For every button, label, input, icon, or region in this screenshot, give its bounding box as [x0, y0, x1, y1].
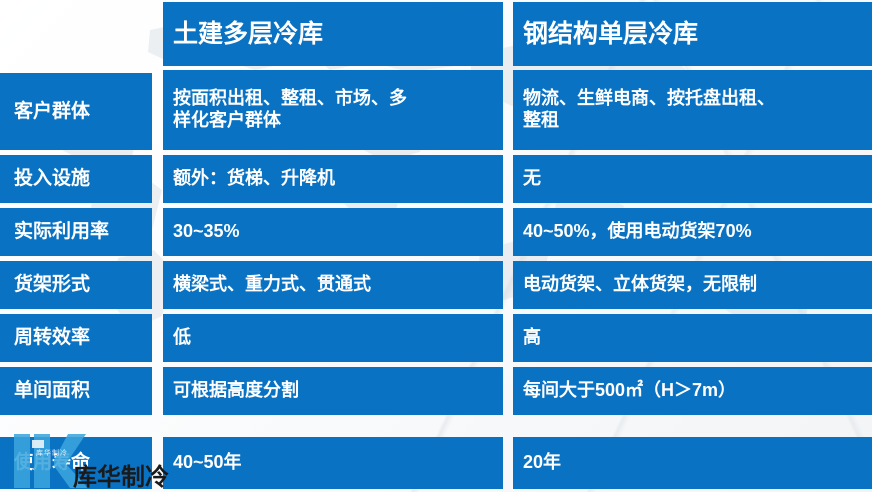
- table-cell-2-b: 40~50%，使用电动货架70%: [513, 208, 872, 256]
- table-cell-0-b: 物流、生鲜电商、按托盘出租、 整租: [513, 70, 872, 150]
- cell-text: 横梁式、重力式、贯通式: [173, 274, 493, 296]
- row-label-text: 投入设施: [14, 167, 138, 190]
- row-label-text: 周转效率: [14, 326, 138, 349]
- table-cell-5-b: 每间大于500㎡（H＞7m）: [513, 367, 872, 415]
- cell-text: 40~50%，使用电动货架70%: [523, 221, 862, 243]
- table-cell-1-a: 额外：货梯、升降机: [163, 155, 503, 203]
- table-cell-4-a: 低: [163, 314, 503, 362]
- table-cell-1-b: 无: [513, 155, 872, 203]
- row-label-text: 单间面积: [14, 379, 138, 402]
- cell-text: 20年: [523, 452, 862, 474]
- table-row-label-5: 单间面积: [0, 367, 152, 415]
- table-cell-4-b: 高: [513, 314, 872, 362]
- row-label-text: 客户群体: [14, 100, 138, 123]
- table-cell-2-a: 30~35%: [163, 208, 503, 256]
- table-cell-3-a: 横梁式、重力式、贯通式: [163, 261, 503, 309]
- table-cell-6-b: 20年: [513, 437, 872, 489]
- table-row-label-4: 周转效率: [0, 314, 152, 362]
- table-row-label-0: 客户群体: [0, 73, 152, 150]
- cell-text: 40~50年: [173, 452, 493, 474]
- table-cell-0-a: 按面积出租、整租、市场、多 样化客户群体: [163, 70, 503, 150]
- row-label-text: 实际利用率: [14, 220, 138, 243]
- slide-root: 土建多层冷库 钢结构单层冷库 客户群体 按面积出租、整租、市场、多 样化客户群体…: [0, 0, 872, 492]
- cell-text: 可根据高度分割: [173, 380, 493, 402]
- table-cell-6-a: 40~50年: [163, 437, 503, 489]
- table-row-label-3: 货架形式: [0, 261, 152, 309]
- table-row-label-2: 实际利用率: [0, 208, 152, 256]
- cell-text: 高: [523, 327, 862, 349]
- table-cell-5-a: 可根据高度分割: [163, 367, 503, 415]
- row-label-text: 使用寿命: [14, 451, 138, 474]
- table-row-label-6: 使用寿命: [0, 437, 152, 489]
- table-cell-3-b: 电动货架、立体货架，无限制: [513, 261, 872, 309]
- cell-text: 低: [173, 327, 493, 349]
- table-header-col-b-label: 钢结构单层冷库: [523, 19, 862, 50]
- cell-text: 30~35%: [173, 221, 493, 243]
- table-row-label-1: 投入设施: [0, 155, 152, 203]
- cell-text: 按面积出租、整租、市场、多 样化客户群体: [173, 88, 493, 132]
- table-header-col-a: 土建多层冷库: [163, 2, 503, 66]
- cell-text: 每间大于500㎡（H＞7m）: [523, 380, 862, 402]
- table-header-col-a-label: 土建多层冷库: [173, 19, 493, 50]
- cell-text: 物流、生鲜电商、按托盘出租、 整租: [523, 88, 862, 132]
- cell-text: 无: [523, 168, 862, 190]
- cell-text: 电动货架、立体货架，无限制: [523, 274, 862, 296]
- comparison-table: 土建多层冷库 钢结构单层冷库 客户群体 按面积出租、整租、市场、多 样化客户群体…: [0, 0, 872, 492]
- table-header-col-b: 钢结构单层冷库: [513, 2, 872, 66]
- row-label-text: 货架形式: [14, 273, 138, 296]
- cell-text: 额外：货梯、升降机: [173, 168, 493, 190]
